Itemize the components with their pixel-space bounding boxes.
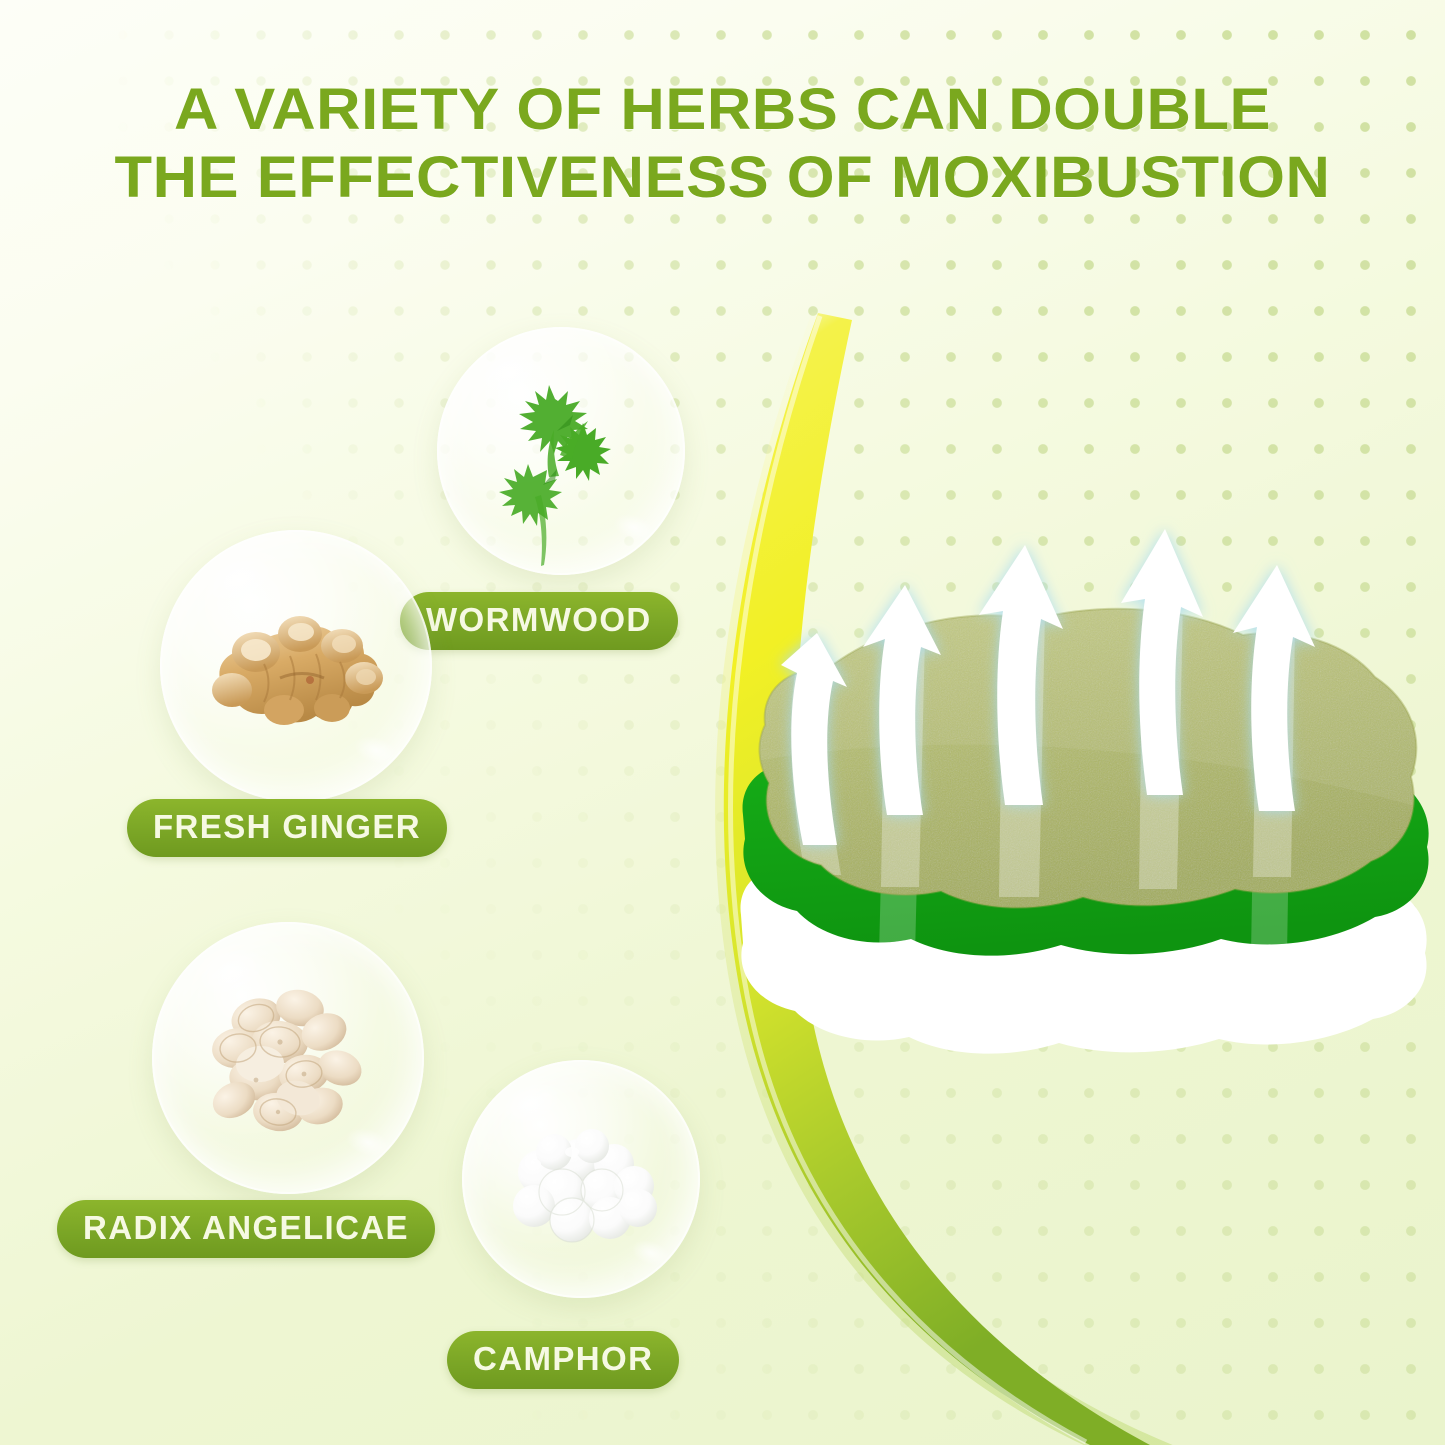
wormwood-leaves-icon — [437, 327, 685, 575]
ingredient-label-fresh-ginger: FRESH GINGER — [127, 799, 447, 857]
angelica-root-slices-icon — [152, 922, 424, 1194]
ingredient-label-radix-angelicae: RADIX ANGELICAE — [57, 1200, 435, 1258]
moss-herb-layer — [735, 515, 1445, 908]
ingredient-bubble-radix-angelicae[interactable] — [152, 922, 424, 1194]
ginger-root-icon — [160, 530, 432, 802]
page-title: A VARIETY OF HERBS CAN DOUBLE THE EFFECT… — [0, 76, 1445, 213]
ingredient-label-wormwood: WORMWOOD — [400, 592, 678, 650]
ingredient-bubble-wormwood[interactable] — [437, 327, 685, 575]
moxibustion-patch-diagram — [735, 515, 1445, 1115]
ingredient-bubble-fresh-ginger[interactable] — [160, 530, 432, 802]
ingredient-label-camphor: CAMPHOR — [447, 1331, 679, 1389]
infographic-canvas: A VARIETY OF HERBS CAN DOUBLE THE EFFECT… — [0, 0, 1445, 1445]
camphor-balls-icon — [462, 1060, 700, 1298]
ingredient-bubble-camphor[interactable] — [462, 1060, 700, 1298]
